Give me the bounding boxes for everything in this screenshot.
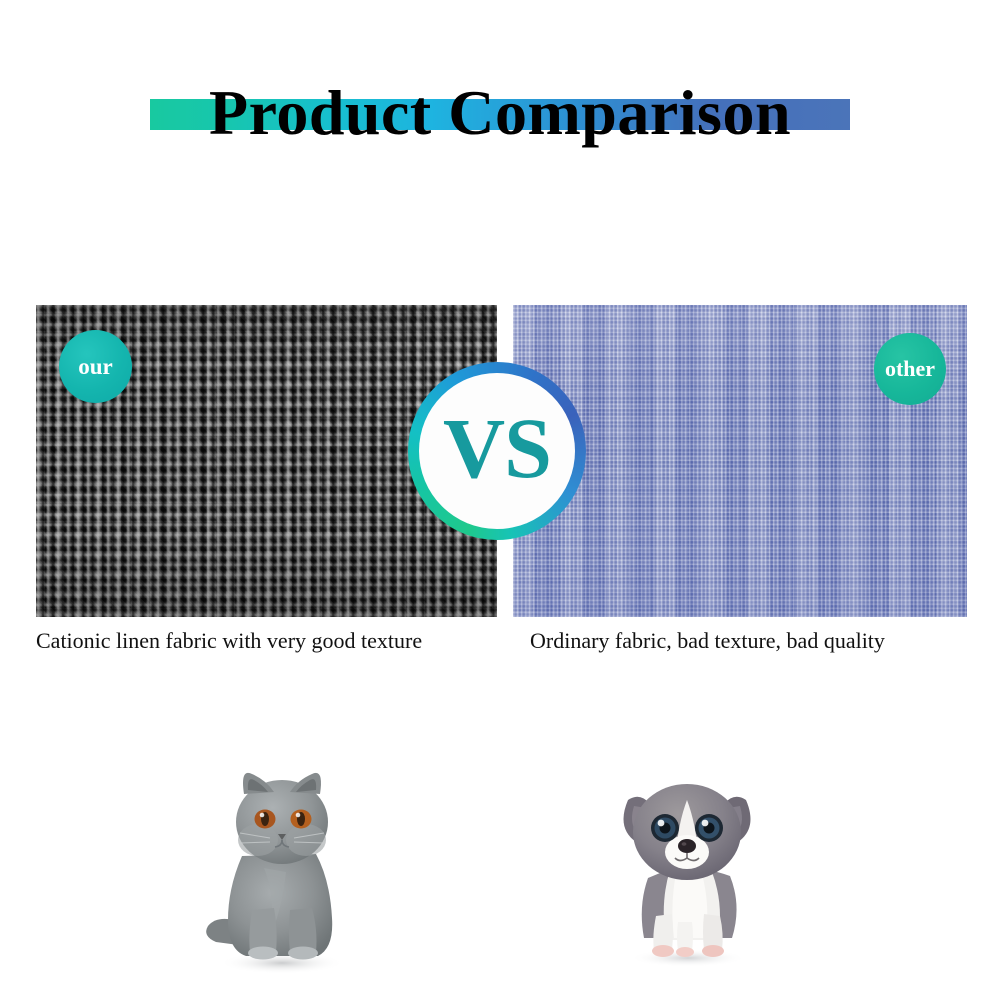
page-title: Product Comparison: [0, 70, 1000, 156]
vs-label: VS: [443, 405, 551, 491]
other-badge: other: [874, 333, 946, 405]
our-badge: our: [59, 330, 132, 403]
vs-badge: VS: [408, 362, 586, 540]
other-badge-label: other: [885, 358, 935, 380]
our-fabric-caption: Cationic linen fabric with very good tex…: [36, 628, 422, 654]
our-badge-label: our: [78, 355, 113, 378]
gray-cat-photo: [190, 760, 370, 978]
other-fabric-caption: Ordinary fabric, bad texture, bad qualit…: [530, 628, 885, 654]
chihuahua-puppy-photo: [592, 770, 782, 970]
vs-badge-inner: VS: [419, 373, 575, 529]
page-title-block: Product Comparison: [0, 70, 1000, 160]
